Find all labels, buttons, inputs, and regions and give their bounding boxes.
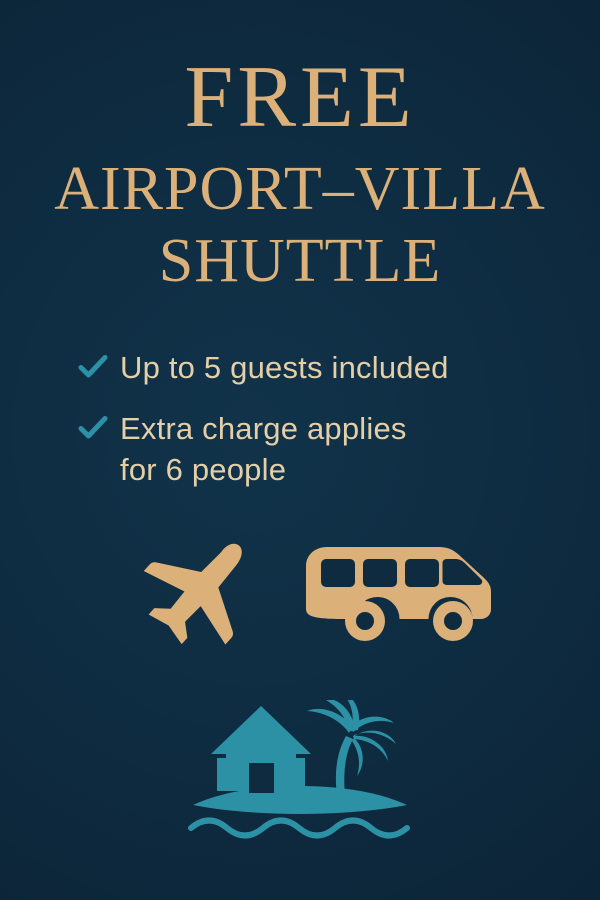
villa-palm-island-icon xyxy=(185,700,415,845)
page-title: FREE AIRPORT–VILLA SHUTTLE xyxy=(0,54,600,292)
check-icon xyxy=(78,413,108,443)
airplane-icon xyxy=(132,529,270,647)
transport-icon-row xyxy=(0,525,600,650)
shuttle-van-icon xyxy=(305,533,495,648)
headline-line-shuttle: SHUTTLE xyxy=(0,230,600,292)
list-item-label: Up to 5 guests included xyxy=(120,348,449,389)
check-icon xyxy=(78,352,108,382)
promo-poster: FREE AIRPORT–VILLA SHUTTLE Up to 5 guest… xyxy=(0,0,600,900)
headline-line-free: FREE xyxy=(0,54,600,142)
list-item: Extra charge applies for 6 people xyxy=(78,409,538,491)
headline-line-airport-villa: AIRPORT–VILLA xyxy=(0,158,600,220)
feature-list: Up to 5 guests included Extra charge app… xyxy=(78,348,538,511)
list-item-label: Extra charge applies for 6 people xyxy=(120,409,407,491)
list-item: Up to 5 guests included xyxy=(78,348,538,389)
